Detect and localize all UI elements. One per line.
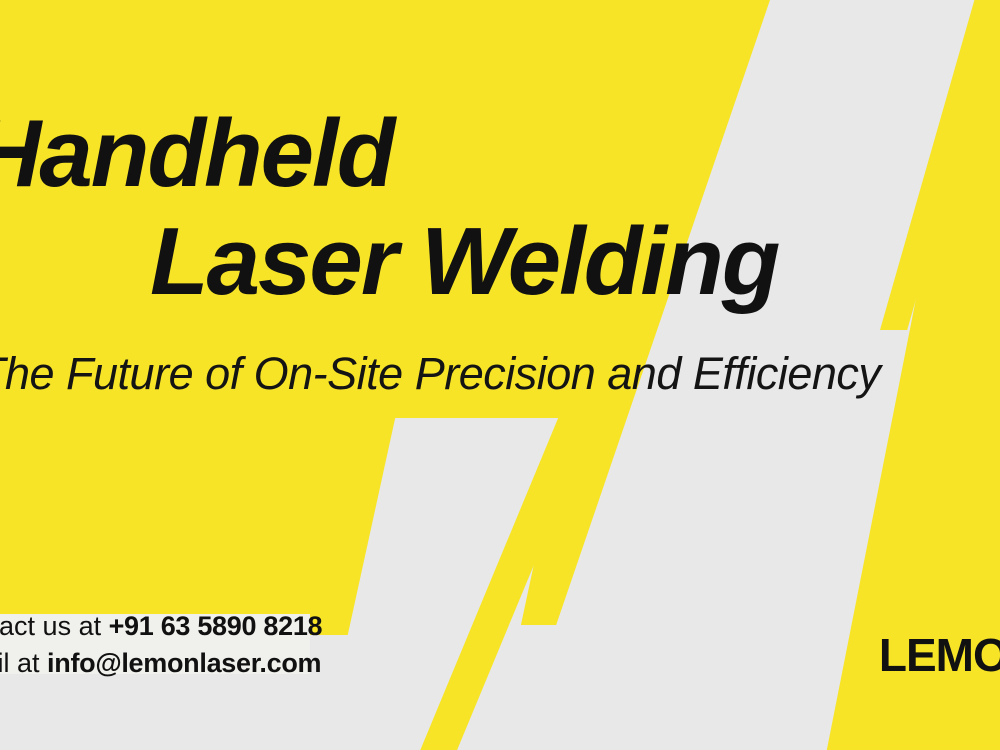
contact-email-row: Email at info@lemonlaser.com <box>0 645 322 682</box>
headline-line-1: Handheld <box>0 106 1000 202</box>
promotional-banner: Handheld Laser Welding The Future of On-… <box>0 0 1000 750</box>
contact-phone-label: Contact us at <box>0 611 109 641</box>
contact-email-label: Email at <box>0 648 47 678</box>
subheadline: The Future of On-Site Precision and Effi… <box>0 348 880 400</box>
contact-phone-value[interactable]: +91 63 5890 8218 <box>109 611 323 641</box>
banner-content: Handheld Laser Welding The Future of On-… <box>0 0 1000 750</box>
contact-phone-row: Contact us at +91 63 5890 8218 <box>0 608 322 645</box>
headline-block: Handheld Laser Welding <box>0 106 1000 310</box>
contact-info: Contact us at +91 63 5890 8218 Email at … <box>0 608 322 683</box>
contact-email-value[interactable]: info@lemonlaser.com <box>47 648 321 678</box>
brand-logo: LEMON <box>879 628 1000 682</box>
headline-line-2: Laser Welding <box>150 214 1000 310</box>
